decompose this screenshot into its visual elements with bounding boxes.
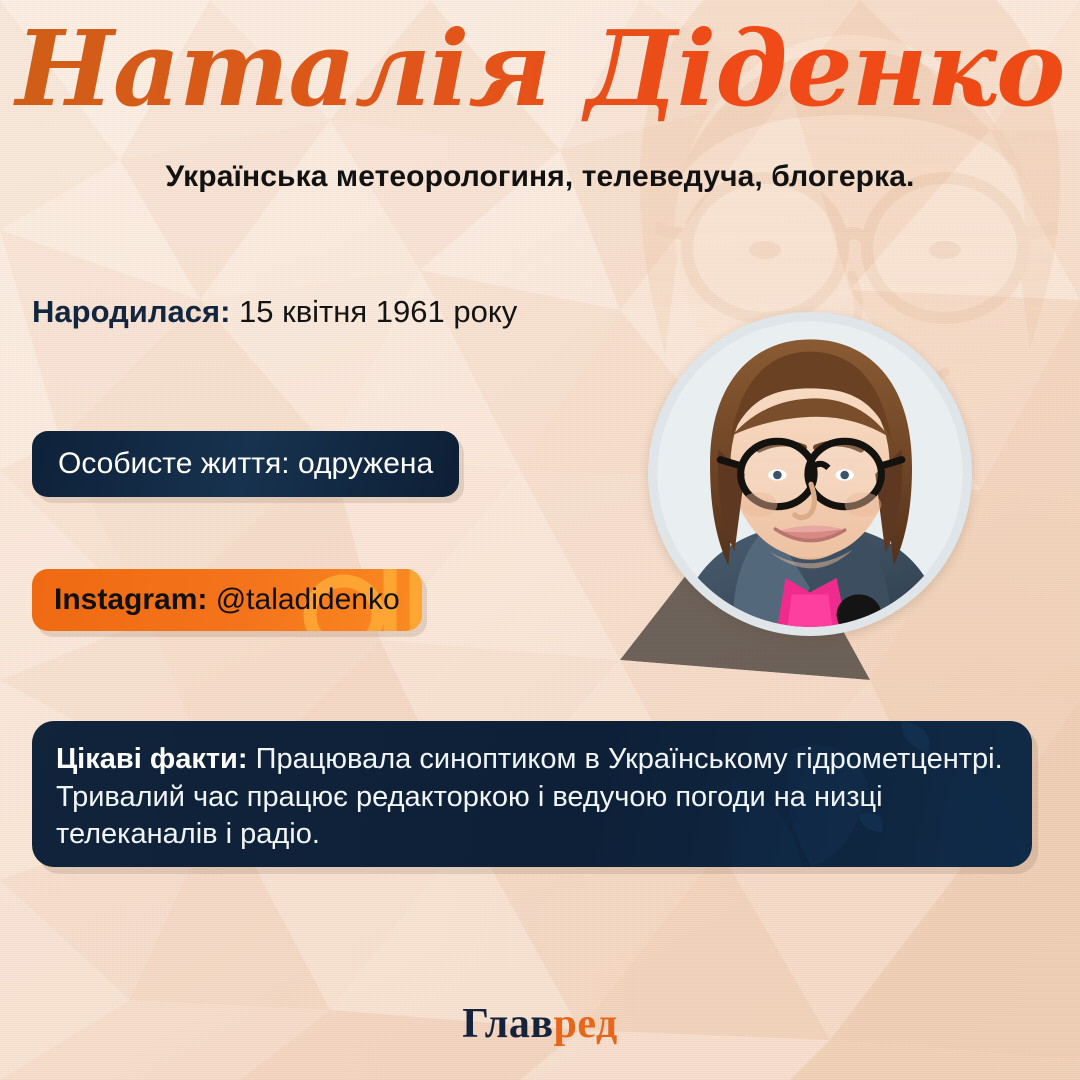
logo-part-glav: Глав	[462, 1001, 553, 1047]
facts-label: Цікаві факти:	[56, 743, 248, 775]
birth-info: Народилася: 15 квітня 1961 року	[32, 294, 517, 330]
page-subtitle: Українська метеорологиня, телеведуча, бл…	[0, 160, 1080, 194]
interesting-facts-block: Цікаві факти: Працювала синоптиком в Укр…	[32, 721, 1032, 867]
instagram-badge[interactable]: Instagram: @taladidenko	[32, 569, 422, 631]
personal-life-badge: Особисте життя: одружена	[32, 431, 459, 497]
infographic-card: Наталія Діденко Українська метеорологиня…	[0, 0, 1080, 1080]
instagram-text: Instagram: @taladidenko	[54, 583, 400, 617]
instagram-label: Instagram:	[54, 583, 207, 616]
personal-life-text: Особисте життя: одружена	[58, 447, 433, 481]
portrait-illustration	[657, 321, 963, 627]
portrait-photo	[648, 312, 972, 636]
birth-value: 15 квітня 1961 року	[239, 294, 517, 329]
page-title: Наталія Діденко	[0, 14, 1080, 123]
glavred-logo[interactable]: Главред	[0, 1000, 1080, 1048]
instagram-handle: @taladidenko	[216, 583, 400, 616]
birth-label: Народилася:	[32, 294, 230, 329]
logo-part-red: ред	[554, 1001, 618, 1047]
facts-text: Цікаві факти: Працювала синоптиком в Укр…	[32, 721, 1032, 854]
